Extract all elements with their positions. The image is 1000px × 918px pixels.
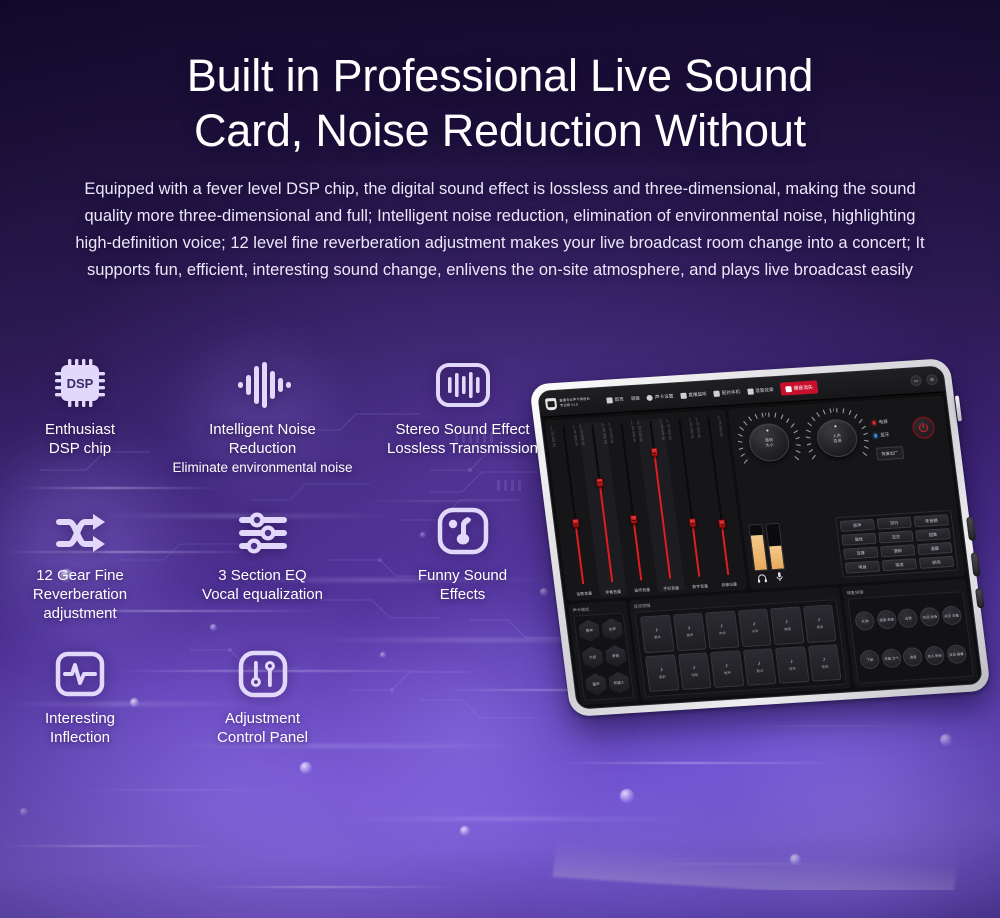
round-button-grid: 礼物 感谢 老铁 点赞 欢迎 进场 关注 主播 下单 老板 大气 连麦 加入 粉… bbox=[853, 596, 969, 678]
minimize-icon[interactable]: ▭ bbox=[910, 375, 922, 387]
sfx-label: 倒彩 bbox=[659, 674, 666, 679]
sfx-button[interactable]: ♪铃声 bbox=[775, 646, 809, 684]
knob-label: 人声 变调 bbox=[833, 433, 842, 443]
microphone-icon bbox=[771, 571, 786, 582]
preset-pad[interactable]: 清新 bbox=[880, 544, 915, 557]
usb-port-2 bbox=[971, 552, 981, 576]
music-note-icon: ♪ bbox=[687, 626, 691, 632]
fader-handle[interactable] bbox=[595, 478, 603, 487]
music-note-icon: ♪ bbox=[785, 620, 789, 626]
sfx-label: 掌声 bbox=[654, 635, 661, 640]
hex-button[interactable]: 机器人 bbox=[608, 671, 631, 694]
knob-label: 混响 大小 bbox=[765, 437, 774, 447]
feature-label-line1: Interesting bbox=[45, 710, 115, 727]
fader-fill bbox=[691, 521, 700, 577]
feature-label-line1: Enthusiast bbox=[45, 421, 115, 438]
headline-line-1: Built in Professional Live Sound bbox=[187, 50, 813, 101]
panel-body: 礼物 感谢 老铁 点赞 欢迎 进场 关注 主播 下单 老板 大气 连麦 加入 粉… bbox=[847, 591, 974, 684]
music-note-box-icon bbox=[365, 498, 560, 556]
fire-icon bbox=[785, 386, 792, 392]
shout-button[interactable]: 关注 主播 bbox=[941, 605, 962, 625]
svg-text:DSP: DSP bbox=[67, 376, 94, 391]
hex-button[interactable]: 男声 bbox=[578, 619, 601, 642]
knob-position-dot bbox=[834, 425, 837, 428]
feature-label: Funny Sound Effects bbox=[365, 566, 560, 604]
fader-handle[interactable] bbox=[629, 515, 637, 524]
status-column: 电源 蓝牙 恢复出厂 bbox=[870, 404, 904, 460]
sfx-label: 音效 bbox=[821, 663, 828, 668]
feature-label: Enthusiast DSP chip bbox=[0, 420, 160, 458]
led-indicators: 电源 蓝牙 bbox=[870, 404, 901, 438]
feature-control-panel: Adjustment Control Panel bbox=[160, 641, 365, 747]
pitch-knob[interactable]: i 人声 变调 bbox=[802, 406, 872, 469]
feature-label-line1: Stereo Sound Effect bbox=[396, 421, 530, 438]
vu-meter-bar bbox=[748, 524, 768, 572]
reverb-knob[interactable]: i 混响 大小 bbox=[734, 411, 804, 474]
shout-button[interactable]: 礼物 bbox=[854, 611, 875, 631]
vu-meters bbox=[748, 523, 786, 583]
fader-label: 伴奏音量 bbox=[605, 588, 621, 596]
toolbar-item-soundcard-settings[interactable]: 声卡设置 bbox=[647, 393, 674, 401]
shout-button[interactable]: 欢迎 进场 bbox=[919, 607, 940, 627]
feature-label-line2: Inflection bbox=[50, 729, 110, 746]
knob-label-line2: 大小 bbox=[765, 442, 774, 447]
broadcast-icon bbox=[680, 392, 687, 398]
feature-funny-sound: Funny Sound Effects bbox=[365, 498, 560, 604]
control-panel-sliders-icon bbox=[160, 641, 365, 699]
fader-handle[interactable] bbox=[650, 448, 658, 457]
feature-label-line2: Reverberation bbox=[33, 586, 127, 603]
shout-panel: 喊麦按键 礼物 感谢 老铁 点赞 欢迎 进场 关注 主播 下单 老板 大气 连麦 bbox=[842, 579, 979, 688]
hero-description: Equipped with a fever level DSP chip, th… bbox=[70, 176, 930, 284]
fader-label: 总输出量 bbox=[721, 580, 737, 588]
hex-button[interactable]: 大叔 bbox=[581, 646, 604, 669]
toolbar-hot-button[interactable]: 爆音消失 bbox=[780, 380, 819, 395]
music-note-icon: ♪ bbox=[720, 624, 724, 630]
fader-handle[interactable] bbox=[688, 518, 696, 527]
toolbar-label: 直播监听 bbox=[688, 391, 707, 398]
knob-row: i 混响 大小 bbox=[734, 402, 945, 474]
shout-button[interactable]: 感谢 老铁 bbox=[876, 610, 897, 630]
page-title: Built in Professional Live Sound Card, N… bbox=[0, 48, 1000, 158]
feature-label: Intelligent Noise Reduction bbox=[160, 420, 365, 458]
shuffle-arrows-icon bbox=[0, 498, 160, 556]
feature-grid: DSP Enthusiast DSP chip bbox=[0, 352, 560, 747]
preset-pad[interactable]: 摇滚 bbox=[882, 558, 917, 571]
preset-pad[interactable]: 甜美 bbox=[915, 528, 950, 541]
feature-label-line3: adjustment bbox=[43, 605, 116, 622]
pulse-box-icon bbox=[0, 641, 160, 699]
shout-button[interactable]: 加入 粉丝 bbox=[924, 645, 945, 665]
hex-button[interactable]: 萝莉 bbox=[604, 645, 627, 668]
fader-fill bbox=[632, 518, 642, 580]
music-note-icon: ♪ bbox=[692, 665, 696, 671]
toolbar-item-live-monitor[interactable]: 直播监听 bbox=[680, 391, 707, 399]
feature-label: Interesting Inflection bbox=[0, 709, 160, 747]
feature-label-line2: Control Panel bbox=[217, 729, 308, 746]
feature-row-3: Interesting Inflection Adjustment Cont bbox=[0, 641, 560, 747]
sfx-label: 亲亲 bbox=[816, 624, 823, 629]
effects-icon bbox=[747, 388, 754, 394]
knob-label-line2: 变调 bbox=[833, 438, 842, 443]
feature-label-line1: Adjustment bbox=[225, 710, 300, 727]
gear-icon bbox=[647, 394, 654, 400]
usb-port-1 bbox=[966, 517, 976, 541]
toolbar-item-home[interactable]: 首页 bbox=[606, 396, 624, 403]
feature-noise-reduction: Intelligent Noise Reduction Eliminate en… bbox=[160, 352, 365, 476]
device-screen: 直播专业声卡调音台 专业版 V1.0 首页 调音 声卡设置 bbox=[537, 365, 983, 709]
feature-label-line1: 12 Gear Fine bbox=[36, 567, 124, 584]
headphone-icon bbox=[754, 572, 769, 583]
sound-card-tablet: 直播专业声卡调音台 专业版 V1.0 首页 调音 声卡设置 bbox=[529, 358, 991, 717]
vu-meter-bar bbox=[765, 523, 785, 571]
usb-port-3 bbox=[975, 588, 985, 608]
feature-label: 3 Section EQ Vocal equalization bbox=[160, 566, 365, 604]
hex-button[interactable]: 女声 bbox=[601, 618, 624, 641]
feature-stereo-sound: Stereo Sound Effect Lossless Transmissio… bbox=[365, 352, 560, 458]
music-note-icon: ♪ bbox=[822, 657, 826, 663]
shout-button[interactable]: 下单 bbox=[859, 650, 880, 670]
power-button[interactable] bbox=[911, 416, 936, 439]
music-note-icon: ♪ bbox=[660, 667, 664, 673]
music-note-icon: ♪ bbox=[817, 617, 821, 623]
preset-pad[interactable]: 电音 bbox=[845, 561, 880, 574]
feature-label-line1: Intelligent Noise bbox=[209, 421, 316, 438]
feature-inflection: Interesting Inflection bbox=[0, 641, 160, 747]
feature-label-line2: Reduction bbox=[229, 440, 297, 457]
preset-pad[interactable]: 流行 bbox=[877, 517, 912, 530]
toolbar-hot-label: 爆音消失 bbox=[793, 384, 813, 392]
led-label: 蓝牙 bbox=[880, 432, 890, 439]
dsp-chip-icon: DSP bbox=[0, 352, 160, 410]
sfx-label: 鼓点 bbox=[756, 668, 763, 673]
sfx-button[interactable]: ♪音效 bbox=[807, 644, 841, 682]
feature-label-line1: 3 Section EQ bbox=[218, 567, 306, 584]
hex-button[interactable]: 童声 bbox=[585, 673, 608, 696]
preset-pad[interactable]: 录音棚 bbox=[914, 514, 949, 527]
sfx-label: 尖叫 bbox=[751, 628, 758, 633]
preset-pad[interactable]: 空灵 bbox=[878, 530, 913, 543]
feature-label-line2: Vocal equalization bbox=[202, 586, 323, 603]
sfx-button[interactable]: ♪哇哦 bbox=[770, 607, 804, 645]
sfx-label: 哇哦 bbox=[784, 626, 791, 631]
app-brand-text: 直播专业声卡调音台 专业版 V1.0 bbox=[559, 397, 594, 407]
music-note-icon: ♪ bbox=[757, 661, 761, 667]
panel-body: 男声 女声 大叔 萝莉 童声 机器人 bbox=[573, 613, 634, 701]
knob-position-dot bbox=[766, 429, 769, 432]
sfx-label: 哈哈 bbox=[691, 672, 698, 677]
sfx-label: 嘘声 bbox=[724, 670, 731, 675]
fader-fill bbox=[574, 522, 584, 584]
sfx-button-grid: ♪掌声 ♪笑声 ♪欢呼 ♪尖叫 ♪哇哦 ♪亲亲 ♪倒彩 ♪哈哈 ♪嘘声 ♪鼓点 bbox=[640, 604, 842, 691]
toolbar-label: 首页 bbox=[614, 396, 624, 403]
settings-icon[interactable]: ⚙ bbox=[926, 374, 938, 386]
power-led-icon bbox=[872, 421, 876, 425]
preset-pad[interactable]: 温暖 bbox=[917, 542, 952, 555]
fader-handle[interactable] bbox=[571, 519, 579, 528]
toolbar-item-mixing[interactable]: 调音 bbox=[630, 395, 640, 402]
sfx-label: 欢呼 bbox=[719, 630, 726, 635]
sfx-button[interactable]: ♪欢呼 bbox=[705, 611, 739, 649]
led-power: 电源 bbox=[872, 418, 900, 426]
music-note-icon: ♪ bbox=[790, 659, 794, 665]
control-panel: i 混响 大小 bbox=[728, 396, 966, 590]
headline-line-2: Card, Noise Reduction Without bbox=[194, 105, 806, 156]
device-bezel: 直播专业声卡调音台 专业版 V1.0 首页 调音 声卡设置 bbox=[529, 358, 991, 717]
music-note-icon: ♪ bbox=[752, 622, 756, 628]
sfx-label: 铃声 bbox=[789, 666, 796, 671]
fader-label: 手机音量 bbox=[663, 584, 679, 592]
music-note-icon: ♪ bbox=[655, 628, 659, 634]
feature-row-2: 12 Gear Fine Reverberation adjustment bbox=[0, 498, 560, 623]
fader-label: 话筒音量 bbox=[576, 590, 592, 598]
feature-label-line2: Effects bbox=[440, 586, 486, 603]
feature-eq: 3 Section EQ Vocal equalization bbox=[160, 498, 365, 604]
power-icon bbox=[917, 421, 931, 434]
preset-pad[interactable]: 剧场 bbox=[919, 556, 954, 569]
sfx-button[interactable]: ♪鼓点 bbox=[742, 648, 776, 686]
toolbar-right-icons: ▭ ⚙ bbox=[910, 374, 938, 387]
feature-label-line2: Lossless Transmission bbox=[387, 440, 538, 457]
volume-button[interactable] bbox=[955, 395, 962, 421]
toolbar-item-pair-phone[interactable]: 配对手机 bbox=[713, 389, 740, 397]
feature-row-1: DSP Enthusiast DSP chip bbox=[0, 352, 560, 476]
music-note-icon: ♪ bbox=[725, 663, 729, 669]
sfx-button[interactable]: ♪嘘声 bbox=[710, 650, 744, 688]
feature-dsp-chip: DSP Enthusiast DSP chip bbox=[0, 352, 160, 458]
eq-sliders-icon bbox=[160, 498, 365, 556]
toolbar-label: 声卡设置 bbox=[655, 393, 674, 400]
hero-section: Built in Professional Live Sound Card, N… bbox=[0, 48, 1000, 284]
voice-mode-panel: 声卡模式 男声 女声 大叔 萝莉 童声 机器人 bbox=[568, 600, 639, 705]
feature-sublabel: Eliminate environmental noise bbox=[160, 459, 365, 476]
shield-icon bbox=[606, 397, 613, 403]
sfx-button[interactable]: ♪哈哈 bbox=[677, 652, 711, 690]
sfx-button[interactable]: ♪掌声 bbox=[640, 615, 674, 653]
mixer-faders-panel: 0510152025303540 0510152025303540 话筒音量 bbox=[545, 409, 748, 601]
sfx-button[interactable]: ♪笑声 bbox=[672, 613, 706, 651]
bottom-panels: 声卡模式 男声 女声 大叔 萝莉 童声 机器人 bbox=[568, 579, 979, 705]
fader-fill bbox=[720, 523, 729, 576]
preset-pad[interactable]: 磁性 bbox=[841, 533, 876, 546]
product-device: 直播专业声卡调音台 专业版 V1.0 首页 调音 声卡设置 bbox=[520, 360, 1000, 780]
sfx-button[interactable]: ♪亲亲 bbox=[802, 604, 836, 642]
fader-label: 数字音量 bbox=[692, 582, 708, 590]
preset-pad-grid: 原声 流行 录音棚 磁性 空灵 甜美 浑厚 清新 温暖 电音 摇滚 剧场 bbox=[835, 510, 959, 578]
shout-button[interactable]: 点赞 bbox=[898, 608, 919, 628]
feature-label: Stereo Sound Effect Lossless Transmissio… bbox=[365, 420, 560, 458]
led-label: 电源 bbox=[879, 419, 889, 426]
feature-label: 12 Gear Fine Reverberation adjustment bbox=[0, 566, 160, 623]
sfx-button[interactable]: ♪倒彩 bbox=[645, 654, 679, 692]
fader-label: 监听音量 bbox=[634, 586, 650, 594]
fader-handle[interactable] bbox=[717, 519, 725, 528]
sfx-label: 笑声 bbox=[686, 632, 693, 637]
hex-button-grid: 男声 女声 大叔 萝莉 童声 机器人 bbox=[578, 617, 630, 697]
feature-label: Adjustment Control Panel bbox=[160, 709, 365, 747]
toolbar-label: 混音效果 bbox=[755, 387, 774, 394]
stereo-waveform-box-icon bbox=[365, 352, 560, 410]
feature-label-line2: DSP chip bbox=[49, 440, 111, 457]
shout-button[interactable]: 双击 屏幕 bbox=[946, 644, 967, 664]
preset-pad[interactable]: 原声 bbox=[840, 519, 875, 532]
toolbar-label: 调音 bbox=[630, 395, 640, 402]
led-bluetooth: 蓝牙 bbox=[874, 431, 902, 439]
phone-icon bbox=[713, 390, 720, 396]
factory-reset-button[interactable]: 恢复出厂 bbox=[876, 446, 904, 461]
shout-button[interactable]: 连麦 bbox=[902, 647, 923, 667]
toolbar-item-mix-effects[interactable]: 混音效果 bbox=[747, 387, 774, 395]
sound-effect-panel: 音效按键 ♪掌声 ♪笑声 ♪欢呼 ♪尖叫 ♪哇哦 ♪亲亲 ♪倒彩 ♪哈哈 bbox=[629, 587, 852, 701]
panel-body: ♪掌声 ♪笑声 ♪欢呼 ♪尖叫 ♪哇哦 ♪亲亲 ♪倒彩 ♪哈哈 ♪嘘声 ♪鼓点 bbox=[634, 599, 847, 697]
bluetooth-led-icon bbox=[874, 434, 878, 438]
feature-reverberation: 12 Gear Fine Reverberation adjustment bbox=[0, 498, 160, 623]
feature-label-line1: Funny Sound bbox=[418, 567, 507, 584]
sfx-button[interactable]: ♪尖叫 bbox=[737, 609, 771, 647]
shout-button[interactable]: 老板 大气 bbox=[881, 648, 902, 668]
preset-pad[interactable]: 浑厚 bbox=[843, 547, 878, 560]
toolbar-label: 配对手机 bbox=[721, 389, 740, 396]
noise-waveform-icon bbox=[160, 352, 365, 410]
